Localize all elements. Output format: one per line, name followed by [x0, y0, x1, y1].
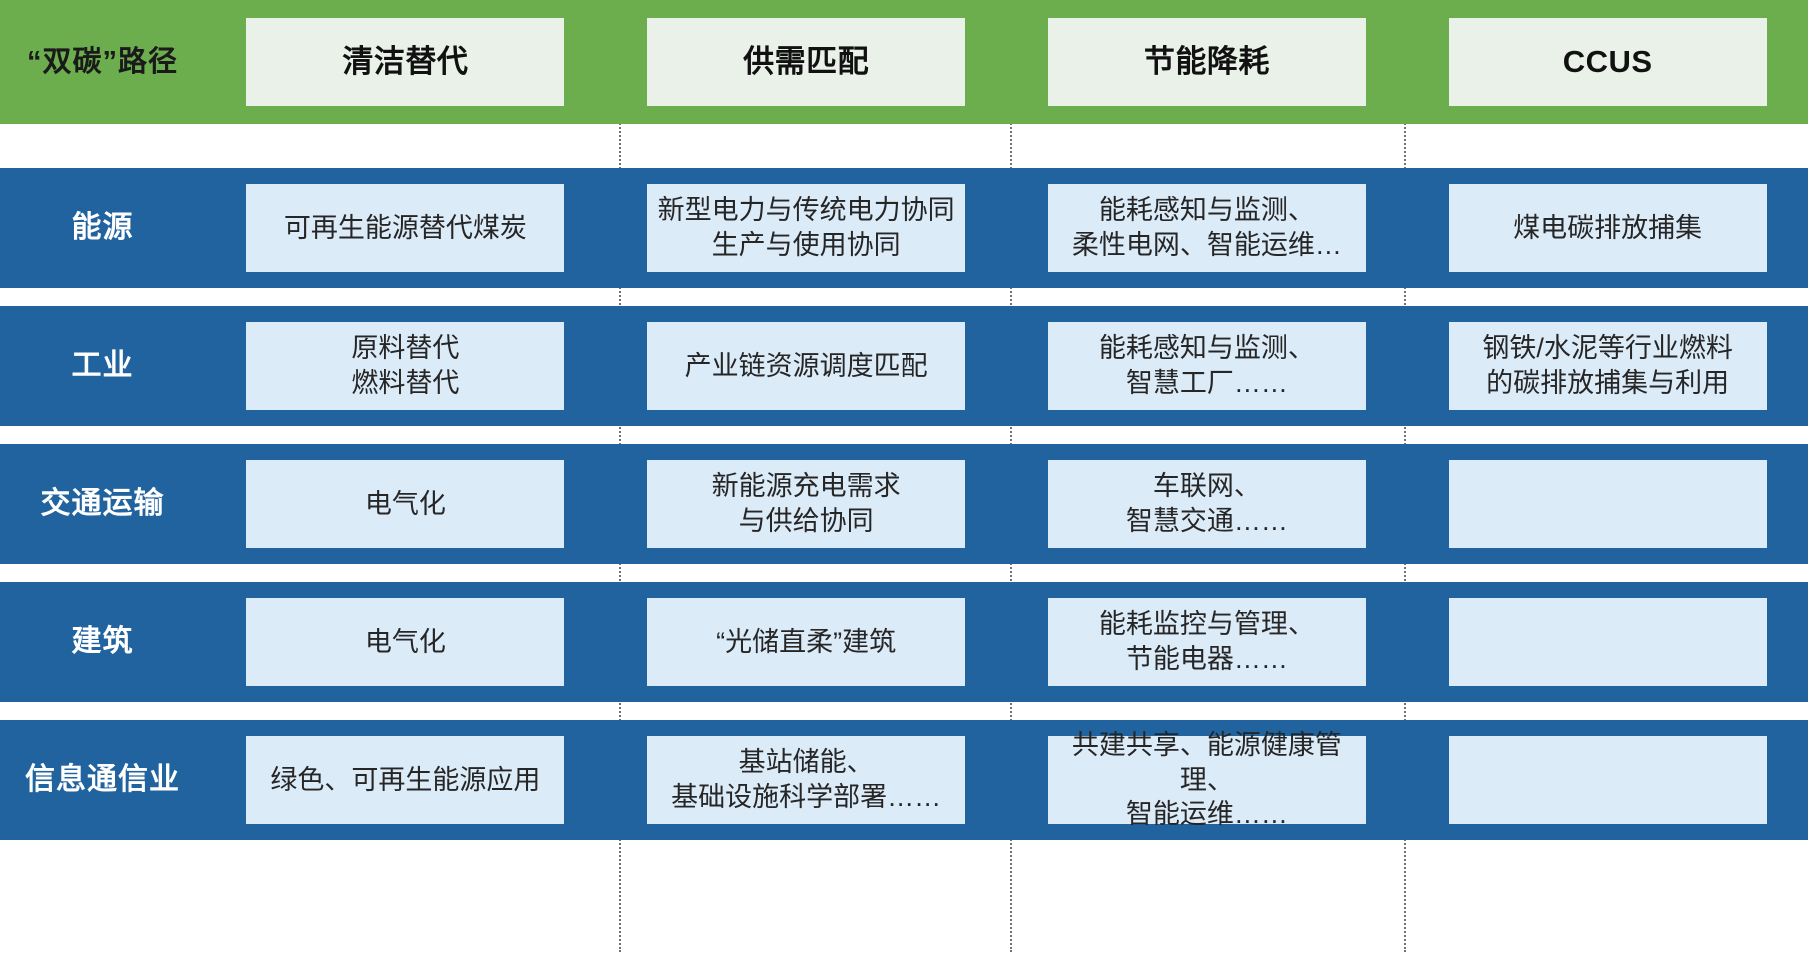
cell-track	[1407, 582, 1808, 702]
cell-track: 钢铁/水泥等行业燃料 的碳排放捕集与利用	[1407, 306, 1808, 426]
cell-track: 可再生能源替代煤炭	[205, 168, 606, 288]
dual-carbon-pathway-matrix: “双碳”路径 清洁替代 供需匹配 节能降耗 CCUS	[0, 0, 1808, 956]
cell-ict-clean-substitution[interactable]: 绿色、可再生能源应用	[246, 736, 564, 824]
header-cell-track-2: 供需匹配	[606, 0, 1007, 124]
cell-track: 新能源充电需求 与供给协同	[606, 444, 1007, 564]
row-label-energy: 能源	[0, 210, 205, 246]
cell-track	[1407, 444, 1808, 564]
table-row: 建筑 电气化 “光储直柔”建筑 能耗监控与管理、 节能电器……	[0, 582, 1808, 702]
cell-buildings-clean-substitution[interactable]: 电气化	[246, 598, 564, 686]
cell-track	[1407, 720, 1808, 840]
cell-track: 基站储能、 基础设施科学部署……	[606, 720, 1007, 840]
row-cells: 电气化 新能源充电需求 与供给协同 车联网、 智慧交通……	[205, 444, 1808, 564]
cell-buildings-energy-saving[interactable]: 能耗监控与管理、 节能电器……	[1048, 598, 1366, 686]
cell-ict-ccus[interactable]	[1449, 736, 1767, 824]
column-header-ccus[interactable]: CCUS	[1449, 18, 1767, 106]
cell-track: 能耗感知与监测、 智慧工厂……	[1007, 306, 1408, 426]
table-row: 能源 可再生能源替代煤炭 新型电力与传统电力协同 生产与使用协同 能耗感知与监测…	[0, 168, 1808, 288]
cell-transportation-ccus[interactable]	[1449, 460, 1767, 548]
column-header-supply-demand-match[interactable]: 供需匹配	[647, 18, 965, 106]
cell-ict-supply-demand-match[interactable]: 基站储能、 基础设施科学部署……	[647, 736, 965, 824]
cell-track: 煤电碳排放捕集	[1407, 168, 1808, 288]
table-row: 交通运输 电气化 新能源充电需求 与供给协同 车联网、 智慧交通……	[0, 444, 1808, 564]
cell-track: “光储直柔”建筑	[606, 582, 1007, 702]
cell-transportation-clean-substitution[interactable]: 电气化	[246, 460, 564, 548]
column-header-energy-saving[interactable]: 节能降耗	[1048, 18, 1366, 106]
row-cells: 电气化 “光储直柔”建筑 能耗监控与管理、 节能电器……	[205, 582, 1808, 702]
corner-label: “双碳”路径	[0, 45, 205, 80]
cell-industry-supply-demand-match[interactable]: 产业链资源调度匹配	[647, 322, 965, 410]
cell-buildings-supply-demand-match[interactable]: “光储直柔”建筑	[647, 598, 965, 686]
table-row: 信息通信业 绿色、可再生能源应用 基站储能、 基础设施科学部署…… 共建共享、能…	[0, 720, 1808, 840]
cell-track: 原料替代 燃料替代	[205, 306, 606, 426]
cell-energy-clean-substitution[interactable]: 可再生能源替代煤炭	[246, 184, 564, 272]
row-label-ict: 信息通信业	[0, 762, 205, 798]
cell-track: 产业链资源调度匹配	[606, 306, 1007, 426]
row-cells: 原料替代 燃料替代 产业链资源调度匹配 能耗感知与监测、 智慧工厂…… 钢铁/水…	[205, 306, 1808, 426]
row-label-buildings: 建筑	[0, 624, 205, 660]
header-cell-track-3: 节能降耗	[1007, 0, 1408, 124]
matrix-header-row: “双碳”路径 清洁替代 供需匹配 节能降耗 CCUS	[0, 0, 1808, 124]
cell-energy-supply-demand-match[interactable]: 新型电力与传统电力协同 生产与使用协同	[647, 184, 965, 272]
header-cells: 清洁替代 供需匹配 节能降耗 CCUS	[205, 0, 1808, 124]
cell-buildings-ccus[interactable]	[1449, 598, 1767, 686]
table-row: 工业 原料替代 燃料替代 产业链资源调度匹配 能耗感知与监测、 智慧工厂…… 钢…	[0, 306, 1808, 426]
cell-industry-energy-saving[interactable]: 能耗感知与监测、 智慧工厂……	[1048, 322, 1366, 410]
cell-transportation-energy-saving[interactable]: 车联网、 智慧交通……	[1048, 460, 1366, 548]
column-header-clean-substitution[interactable]: 清洁替代	[246, 18, 564, 106]
header-cell-track-1: 清洁替代	[205, 0, 606, 124]
cell-track: 电气化	[205, 444, 606, 564]
cell-energy-ccus[interactable]: 煤电碳排放捕集	[1449, 184, 1767, 272]
row-cells: 绿色、可再生能源应用 基站储能、 基础设施科学部署…… 共建共享、能源健康管理、…	[205, 720, 1808, 840]
header-cell-track-4: CCUS	[1407, 0, 1808, 124]
cell-track: 车联网、 智慧交通……	[1007, 444, 1408, 564]
cell-track: 共建共享、能源健康管理、 智能运维……	[1007, 720, 1408, 840]
cell-transportation-supply-demand-match[interactable]: 新能源充电需求 与供给协同	[647, 460, 965, 548]
cell-industry-clean-substitution[interactable]: 原料替代 燃料替代	[246, 322, 564, 410]
cell-industry-ccus[interactable]: 钢铁/水泥等行业燃料 的碳排放捕集与利用	[1449, 322, 1767, 410]
cell-track: 绿色、可再生能源应用	[205, 720, 606, 840]
cell-ict-energy-saving[interactable]: 共建共享、能源健康管理、 智能运维……	[1048, 736, 1366, 824]
row-cells: 可再生能源替代煤炭 新型电力与传统电力协同 生产与使用协同 能耗感知与监测、 柔…	[205, 168, 1808, 288]
cell-track: 电气化	[205, 582, 606, 702]
cell-track: 新型电力与传统电力协同 生产与使用协同	[606, 168, 1007, 288]
cell-track: 能耗监控与管理、 节能电器……	[1007, 582, 1408, 702]
cell-energy-energy-saving[interactable]: 能耗感知与监测、 柔性电网、智能运维…	[1048, 184, 1366, 272]
cell-track: 能耗感知与监测、 柔性电网、智能运维…	[1007, 168, 1408, 288]
row-label-transportation: 交通运输	[0, 486, 205, 522]
row-label-industry: 工业	[0, 348, 205, 384]
